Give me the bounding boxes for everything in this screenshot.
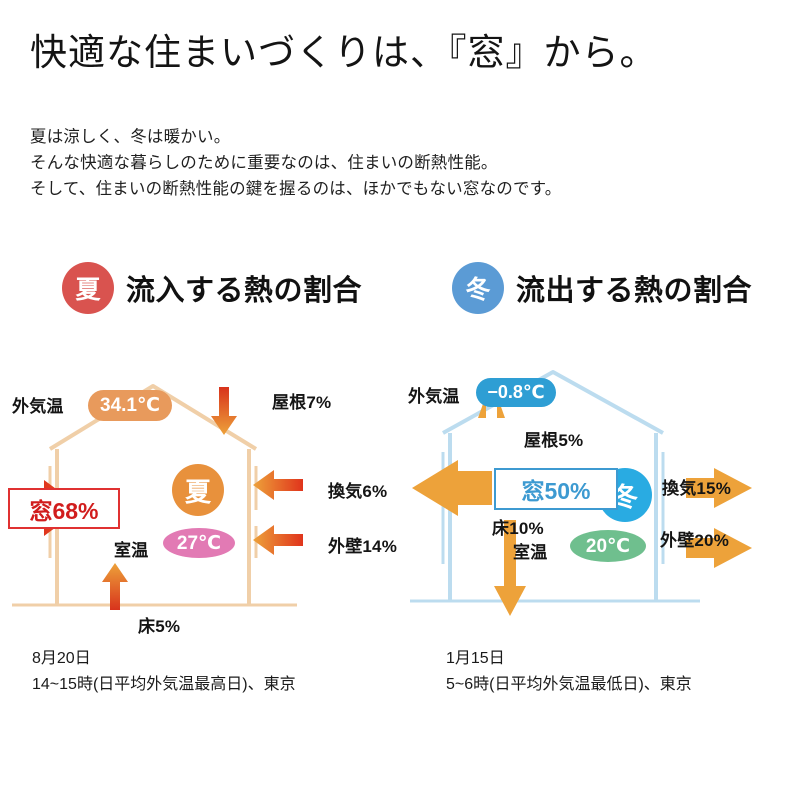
- floor-inflow-arrow: [102, 563, 128, 610]
- wall-inflow-arrow: [253, 525, 303, 555]
- summer-season-badge: 夏: [62, 262, 114, 314]
- winter-indoor-temp-label: 室温: [513, 538, 547, 563]
- winter-heading-text: 流出する熱の割合: [516, 267, 752, 309]
- intro-line-2: そんな快適な暮らしのために重要なのは、住まいの断熱性能。: [30, 150, 561, 176]
- winter-vent-label: 換気15%: [662, 474, 731, 499]
- winter-roof-label: 屋根5%: [524, 426, 583, 451]
- winter-caption: 1月15日 5~6時(日平均外気温最低日)、東京: [446, 646, 692, 698]
- vent-inflow-arrow: [253, 470, 303, 500]
- summer-wall-label: 外壁14%: [328, 532, 397, 557]
- roof-inflow-arrow: [211, 387, 237, 435]
- summer-section-heading: 夏 流入する熱の割合: [62, 262, 362, 314]
- intro-line-3: そして、住まいの断熱性能の鍵を握るのは、ほかでもない窓なのです。: [30, 176, 561, 202]
- summer-caption-date: 8月20日: [32, 646, 296, 672]
- winter-window-value-box: 窓50%: [494, 468, 618, 510]
- summer-window-value-box: 窓68%: [8, 488, 120, 529]
- intro-paragraph: 夏は涼しく、冬は暖かい。 そんな快適な暮らしのために重要なのは、住まいの断熱性能…: [30, 124, 561, 202]
- winter-outdoor-temp-pill: −0.8℃: [476, 378, 556, 407]
- summer-indoor-temp-label: 室温: [114, 536, 148, 561]
- window-outflow-arrow: [412, 460, 492, 516]
- intro-line-1: 夏は涼しく、冬は暖かい。: [30, 124, 561, 150]
- winter-caption-date: 1月15日: [446, 646, 692, 672]
- summer-house-diagram: 外気温 34.1℃ 室温 27℃ 夏 窓68% 屋根7% 換気6% 外壁14% …: [0, 360, 400, 640]
- winter-heading-label: 流出する熱の割合: [516, 275, 752, 307]
- winter-caption-detail: 5~6時(日平均外気温最低日)、東京: [446, 672, 692, 698]
- summer-outdoor-temp-pill: 34.1℃: [88, 390, 172, 421]
- summer-outdoor-temp-label: 外気温: [12, 392, 64, 417]
- summer-caption: 8月20日 14~15時(日平均外気温最高日)、東京: [32, 646, 296, 698]
- summer-indoor-temp-pill: 27℃: [163, 528, 235, 558]
- summer-vent-label: 換気6%: [328, 477, 387, 502]
- summer-floor-label: 床5%: [138, 612, 180, 637]
- infographic-page: 快適な住まいづくりは、『窓』から。 夏は涼しく、冬は暖かい。 そんな快適な暮らし…: [0, 0, 800, 800]
- winter-section-heading: 冬 流出する熱の割合: [452, 262, 752, 314]
- summer-center-circle: 夏: [172, 464, 224, 516]
- winter-outdoor-temp-label: 外気温: [408, 382, 460, 407]
- winter-season-badge: 冬: [452, 262, 504, 314]
- summer-heading-text: 流入する熱の割合: [126, 267, 362, 309]
- summer-heading-label: 流入する熱の割合: [126, 275, 362, 307]
- page-title: 快適な住まいづくりは、『窓』から。: [30, 22, 658, 76]
- winter-house-diagram: 外気温 −0.8℃ 室温 20℃ 冬 窓50% 屋根5% 換気15% 外壁20%…: [400, 360, 800, 640]
- winter-wall-label: 外壁20%: [660, 526, 729, 551]
- winter-floor-label: 床10%: [492, 514, 544, 539]
- summer-roof-label: 屋根7%: [272, 388, 331, 413]
- winter-indoor-temp-pill: 20℃: [570, 530, 646, 562]
- summer-caption-detail: 14~15時(日平均外気温最高日)、東京: [32, 672, 296, 698]
